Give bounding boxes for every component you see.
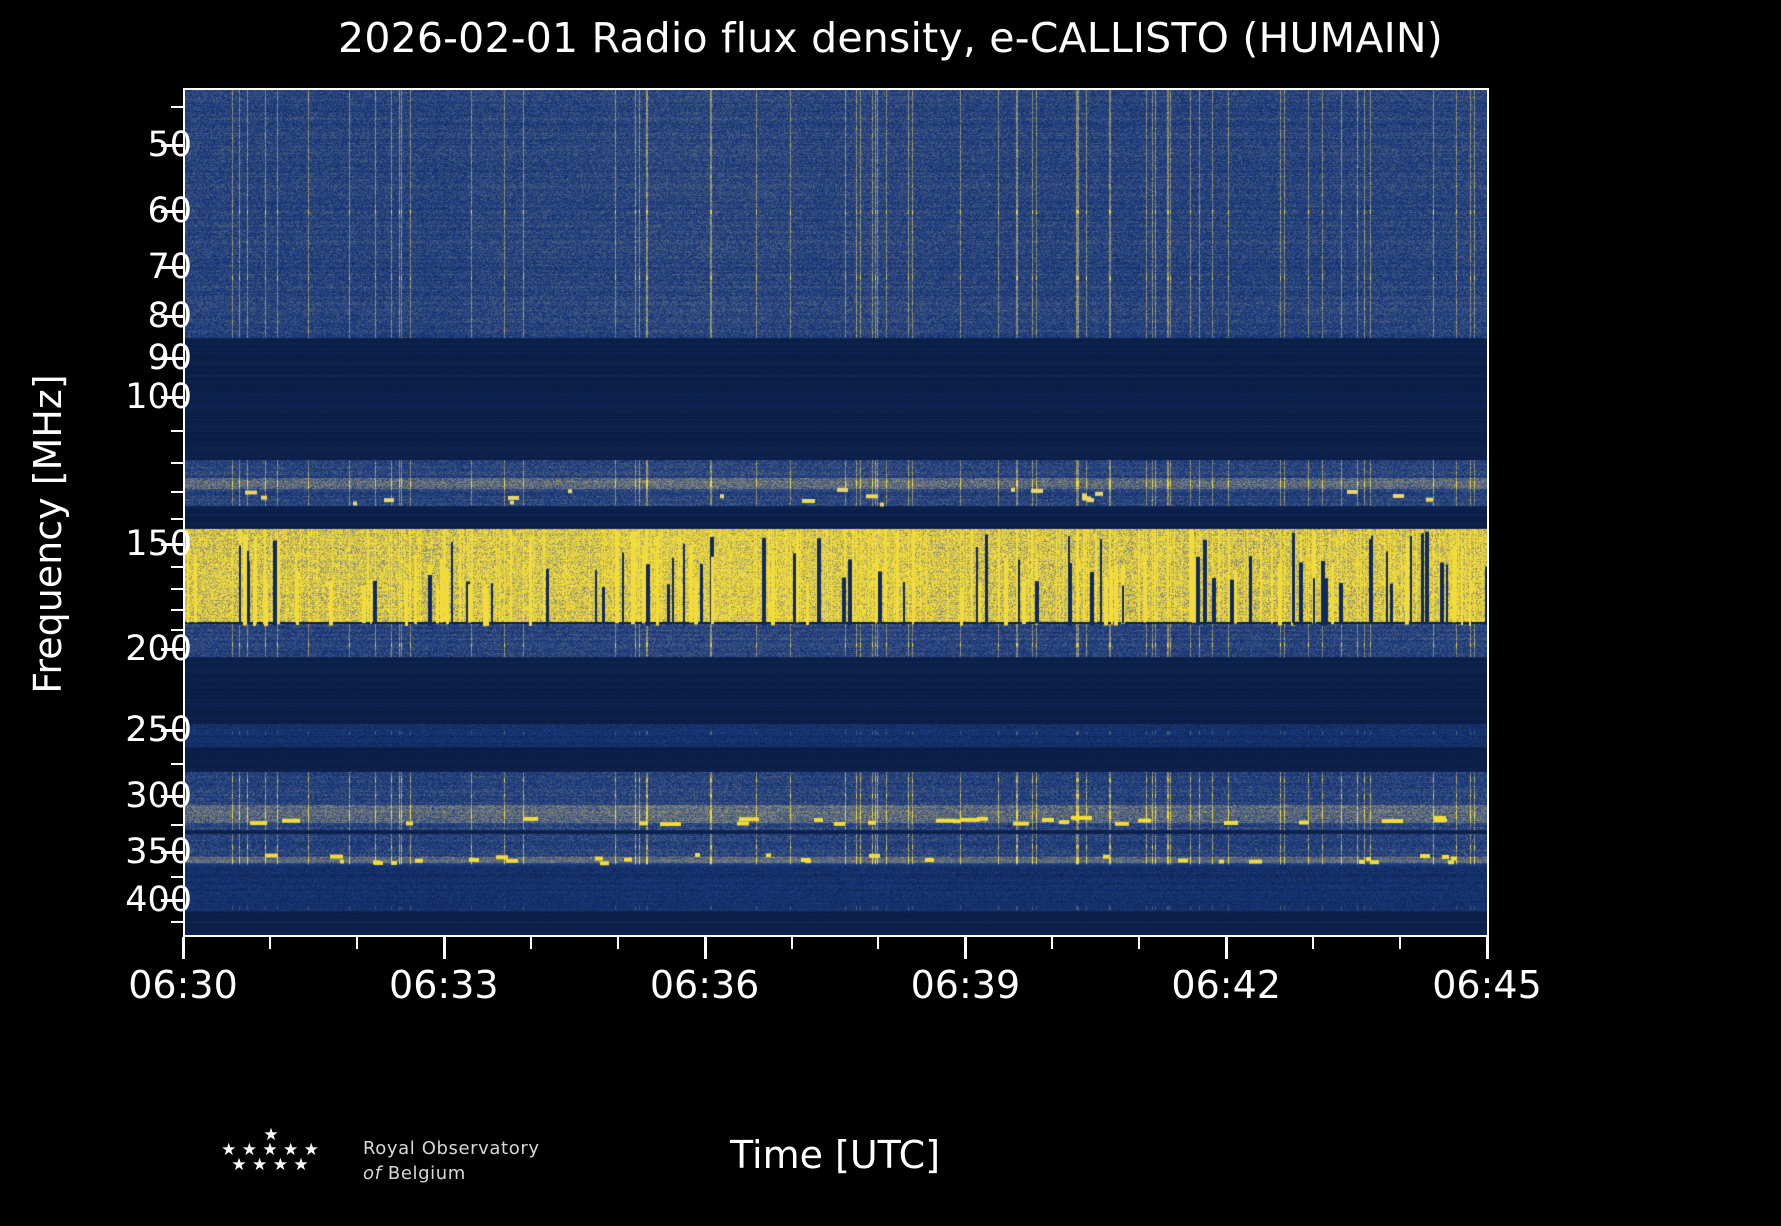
y-tick-label-80: 80 [147, 296, 192, 336]
x-tick-06-45 [1486, 937, 1489, 959]
y-minor-tick-375 [171, 876, 183, 878]
y-tick-label-300: 300 [125, 776, 192, 816]
x-minor-tick-5 [617, 937, 619, 949]
axis-spine-top [183, 88, 1489, 90]
x-minor-tick-2 [356, 937, 358, 949]
spectrogram-image [183, 90, 1487, 935]
x-tick-label-06-36: 06:36 [650, 963, 760, 1007]
eu-stars-icon: ★★ ★ ★ ★ ★★ ★ ★ ★ [185, 1128, 355, 1173]
x-tick-label-06-39: 06:39 [911, 963, 1021, 1007]
figure-canvas: 2026-02-01 Radio flux density, e-CALLIST… [0, 0, 1781, 1226]
y-tick-label-90: 90 [147, 338, 192, 378]
star-row-3: ★ ★ ★ ★ [185, 1158, 355, 1173]
x-tick-06-42 [1225, 937, 1228, 959]
x-tick-label-06-45: 06:45 [1432, 963, 1542, 1007]
logo-line-2: Belgium [388, 1163, 466, 1184]
y-minor-tick-130 [171, 491, 183, 493]
y-minor-tick-425 [171, 921, 183, 923]
y-tick-label-60: 60 [147, 191, 192, 231]
y-minor-tick-140 [171, 518, 183, 520]
y-tick-label-50: 50 [147, 125, 192, 165]
y-minor-tick-160 [171, 566, 183, 568]
x-minor-tick-10 [1051, 937, 1053, 949]
x-minor-tick-14 [1399, 937, 1401, 949]
y-tick-label-150: 150 [125, 524, 192, 564]
x-tick-label-06-33: 06:33 [389, 963, 499, 1007]
axis-spine-right [1487, 88, 1489, 937]
chart-title: 2026-02-01 Radio flux density, e-CALLIST… [0, 14, 1781, 62]
x-tick-06-33 [443, 937, 446, 959]
y-minor-tick-325 [171, 824, 183, 826]
y-axis-label: Frequency [MHz] [26, 154, 70, 914]
x-tick-06-39 [964, 937, 967, 959]
x-tick-label-06-42: 06:42 [1171, 963, 1281, 1007]
x-minor-tick-11 [1138, 937, 1140, 949]
axis-spine-bottom [183, 935, 1489, 937]
x-minor-tick-7 [791, 937, 793, 949]
y-minor-tick-180 [171, 609, 183, 611]
y-minor-tick-275 [171, 763, 183, 765]
y-minor-tick-170 [171, 588, 183, 590]
y-tick-label-400: 400 [125, 880, 192, 920]
y-tick-label-70: 70 [147, 247, 192, 287]
spectrogram-plot-area[interactable] [183, 90, 1487, 935]
y-tick-label-200: 200 [125, 629, 192, 669]
y-tick-label-350: 350 [125, 832, 192, 872]
x-tick-06-36 [704, 937, 707, 959]
y-tick-label-100: 100 [125, 377, 192, 417]
y-minor-tick-110 [171, 430, 183, 432]
x-tick-06-30 [182, 937, 185, 959]
royal-observatory-logo: ★★ ★ ★ ★ ★★ ★ ★ ★ Royal Observatory of B… [185, 1128, 625, 1200]
x-tick-label-06-30: 06:30 [128, 963, 238, 1007]
x-minor-tick-4 [530, 937, 532, 949]
x-minor-tick-13 [1312, 937, 1314, 949]
y-minor-tick-190 [171, 629, 183, 631]
logo-text: Royal Observatory of Belgium [363, 1136, 540, 1186]
y-minor-tick-120 [171, 462, 183, 464]
x-minor-tick-1 [269, 937, 271, 949]
y-minor-tick-45 [171, 106, 183, 108]
y-tick-label-250: 250 [125, 710, 192, 750]
x-minor-tick-8 [877, 937, 879, 949]
logo-line-2-italic: of [363, 1163, 382, 1184]
logo-line-1: Royal Observatory [363, 1136, 540, 1161]
